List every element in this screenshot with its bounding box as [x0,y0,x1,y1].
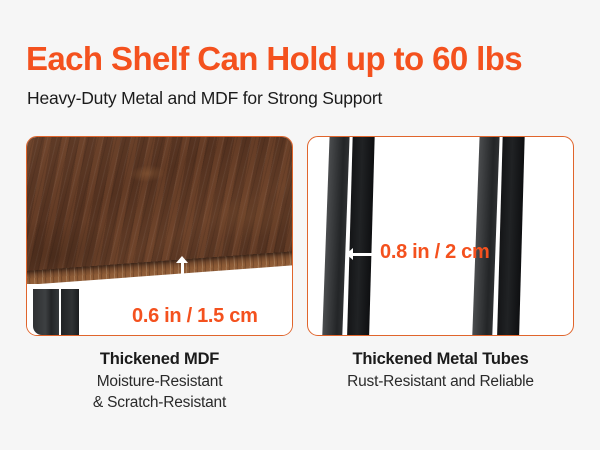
caption-line-metal-1: Rust-Resistant and Reliable [307,372,574,393]
metal-tube-2 [347,136,375,336]
caption-line-mdf-1: Moisture-Resistant [26,372,293,393]
caption-line-mdf-2: & Scratch-Resistant [26,393,293,414]
caption-mdf: Thickened MDF Moisture-Resistant & Scrat… [26,348,293,414]
thickness-arrow-vertical-icon [176,256,189,292]
panel-mdf: 0.6 in / 1.5 cm [26,136,293,336]
metal-tube-1 [322,136,350,336]
shelf-leg-back [61,289,79,335]
page-subtitle: Heavy-Duty Metal and MDF for Strong Supp… [27,88,587,109]
metal-tube-3 [472,136,500,336]
dimension-label-metal: 0.8 in / 2 cm [380,241,490,264]
metal-tube-4 [497,136,525,336]
caption-title-metal: Thickened Metal Tubes [307,348,574,372]
caption-metal-tubes: Thickened Metal Tubes Rust-Resistant and… [307,348,574,393]
dimension-label-mdf: 0.6 in / 1.5 cm [132,305,258,328]
shelf-leg-front [33,289,59,335]
arrow-shaft [351,253,379,256]
arrow-head-down [176,285,188,292]
caption-title-mdf: Thickened MDF [26,348,293,372]
width-arrow-horizontal-icon [346,248,384,261]
page-title: Each Shelf Can Hold up to 60 lbs [26,42,586,77]
infographic-page: Each Shelf Can Hold up to 60 lbs Heavy-D… [0,0,600,450]
arrow-shaft [181,261,184,287]
panel-metal-tubes: 0.8 in / 2 cm [307,136,574,336]
